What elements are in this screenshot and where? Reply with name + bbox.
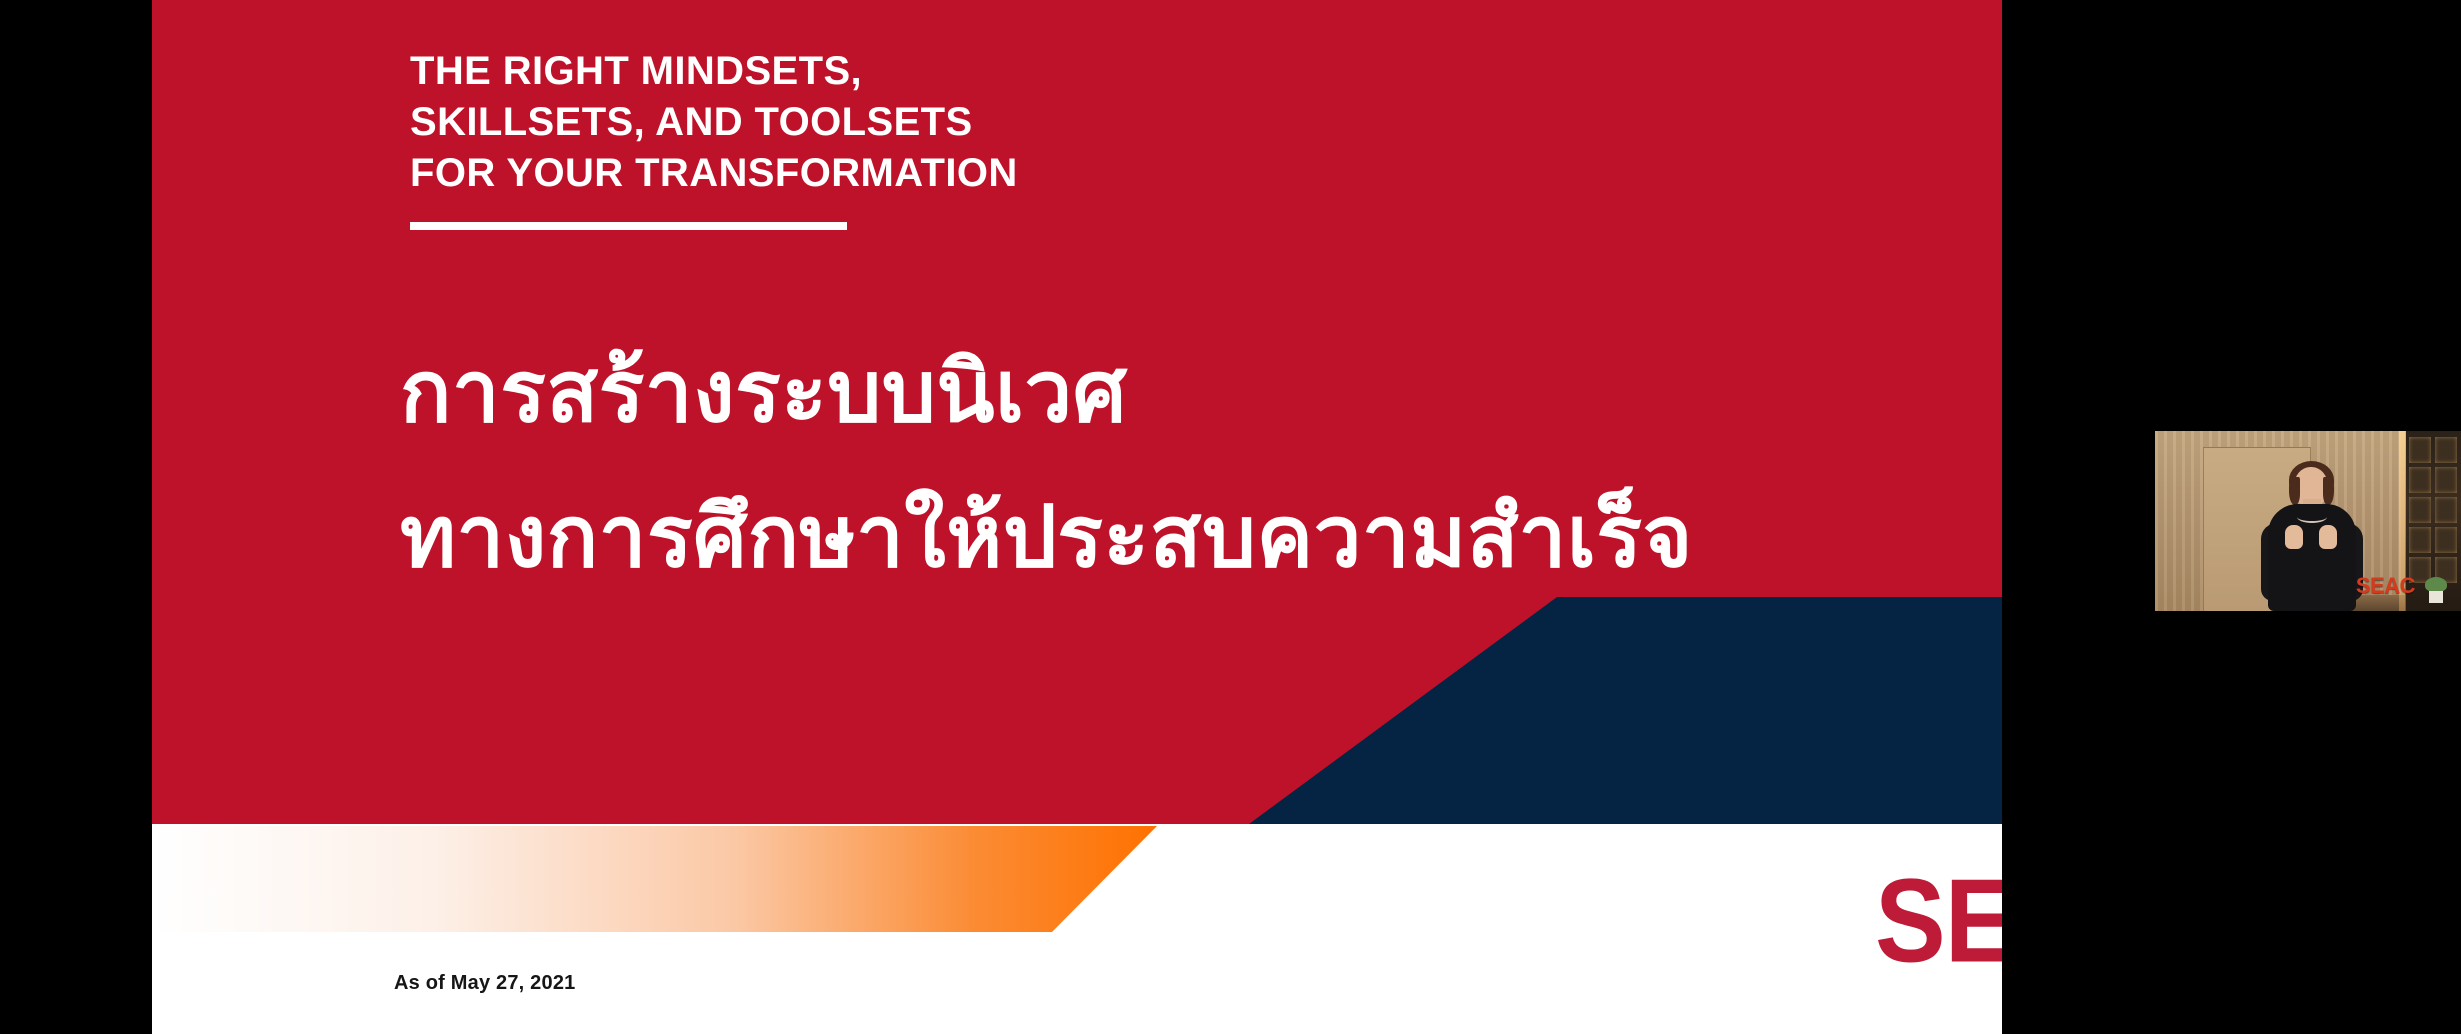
shelf-cell <box>2435 437 2457 463</box>
screen: THE RIGHT MINDSETS, SKILLSETS, AND TOOLS… <box>0 0 2461 1034</box>
shelf-cell <box>2409 437 2431 463</box>
orange-gradient-ribbon <box>152 826 1157 932</box>
slide-eyebrow-headline: THE RIGHT MINDSETS, SKILLSETS, AND TOOLS… <box>410 46 1510 199</box>
presentation-slide: THE RIGHT MINDSETS, SKILLSETS, AND TOOLS… <box>152 0 2002 1034</box>
presenter-right-hand <box>2319 525 2337 549</box>
presenter-necklace <box>2297 511 2327 523</box>
shelf-cell <box>2435 527 2457 553</box>
seac-prop-sign: SEAC <box>2356 573 2415 599</box>
shelf-cell <box>2435 467 2457 493</box>
thai-title-line-1: การสร้างระบบนิเวศ <box>400 320 1900 465</box>
eyebrow-underline-rule <box>410 222 847 230</box>
potted-plant-prop <box>2423 577 2449 603</box>
plant-pot <box>2429 591 2443 603</box>
plant-leaves <box>2425 577 2447 592</box>
shelf-cell <box>2409 467 2431 493</box>
thai-title-line-2: ทางการศึกษาให้ประสบความสำเร็จ <box>400 465 1900 610</box>
shelf-cell <box>2409 497 2431 523</box>
presenter-hair-right <box>2323 477 2334 505</box>
slide-thai-title: การสร้างระบบนิเวศ ทางการศึกษาให้ประสบควา… <box>400 320 1900 610</box>
shelf-cell <box>2409 527 2431 553</box>
video-frame: SEAC <box>2155 431 2461 611</box>
presenter-left-hand <box>2285 525 2303 549</box>
presenter-video-overlay[interactable]: SEAC <box>2155 431 2461 611</box>
as-of-date-label: As of May 27, 2021 <box>394 972 575 995</box>
shelf-cell <box>2435 497 2457 523</box>
presenter-hair-left <box>2289 477 2300 505</box>
seac-logo: SEAC <box>1875 862 2002 981</box>
